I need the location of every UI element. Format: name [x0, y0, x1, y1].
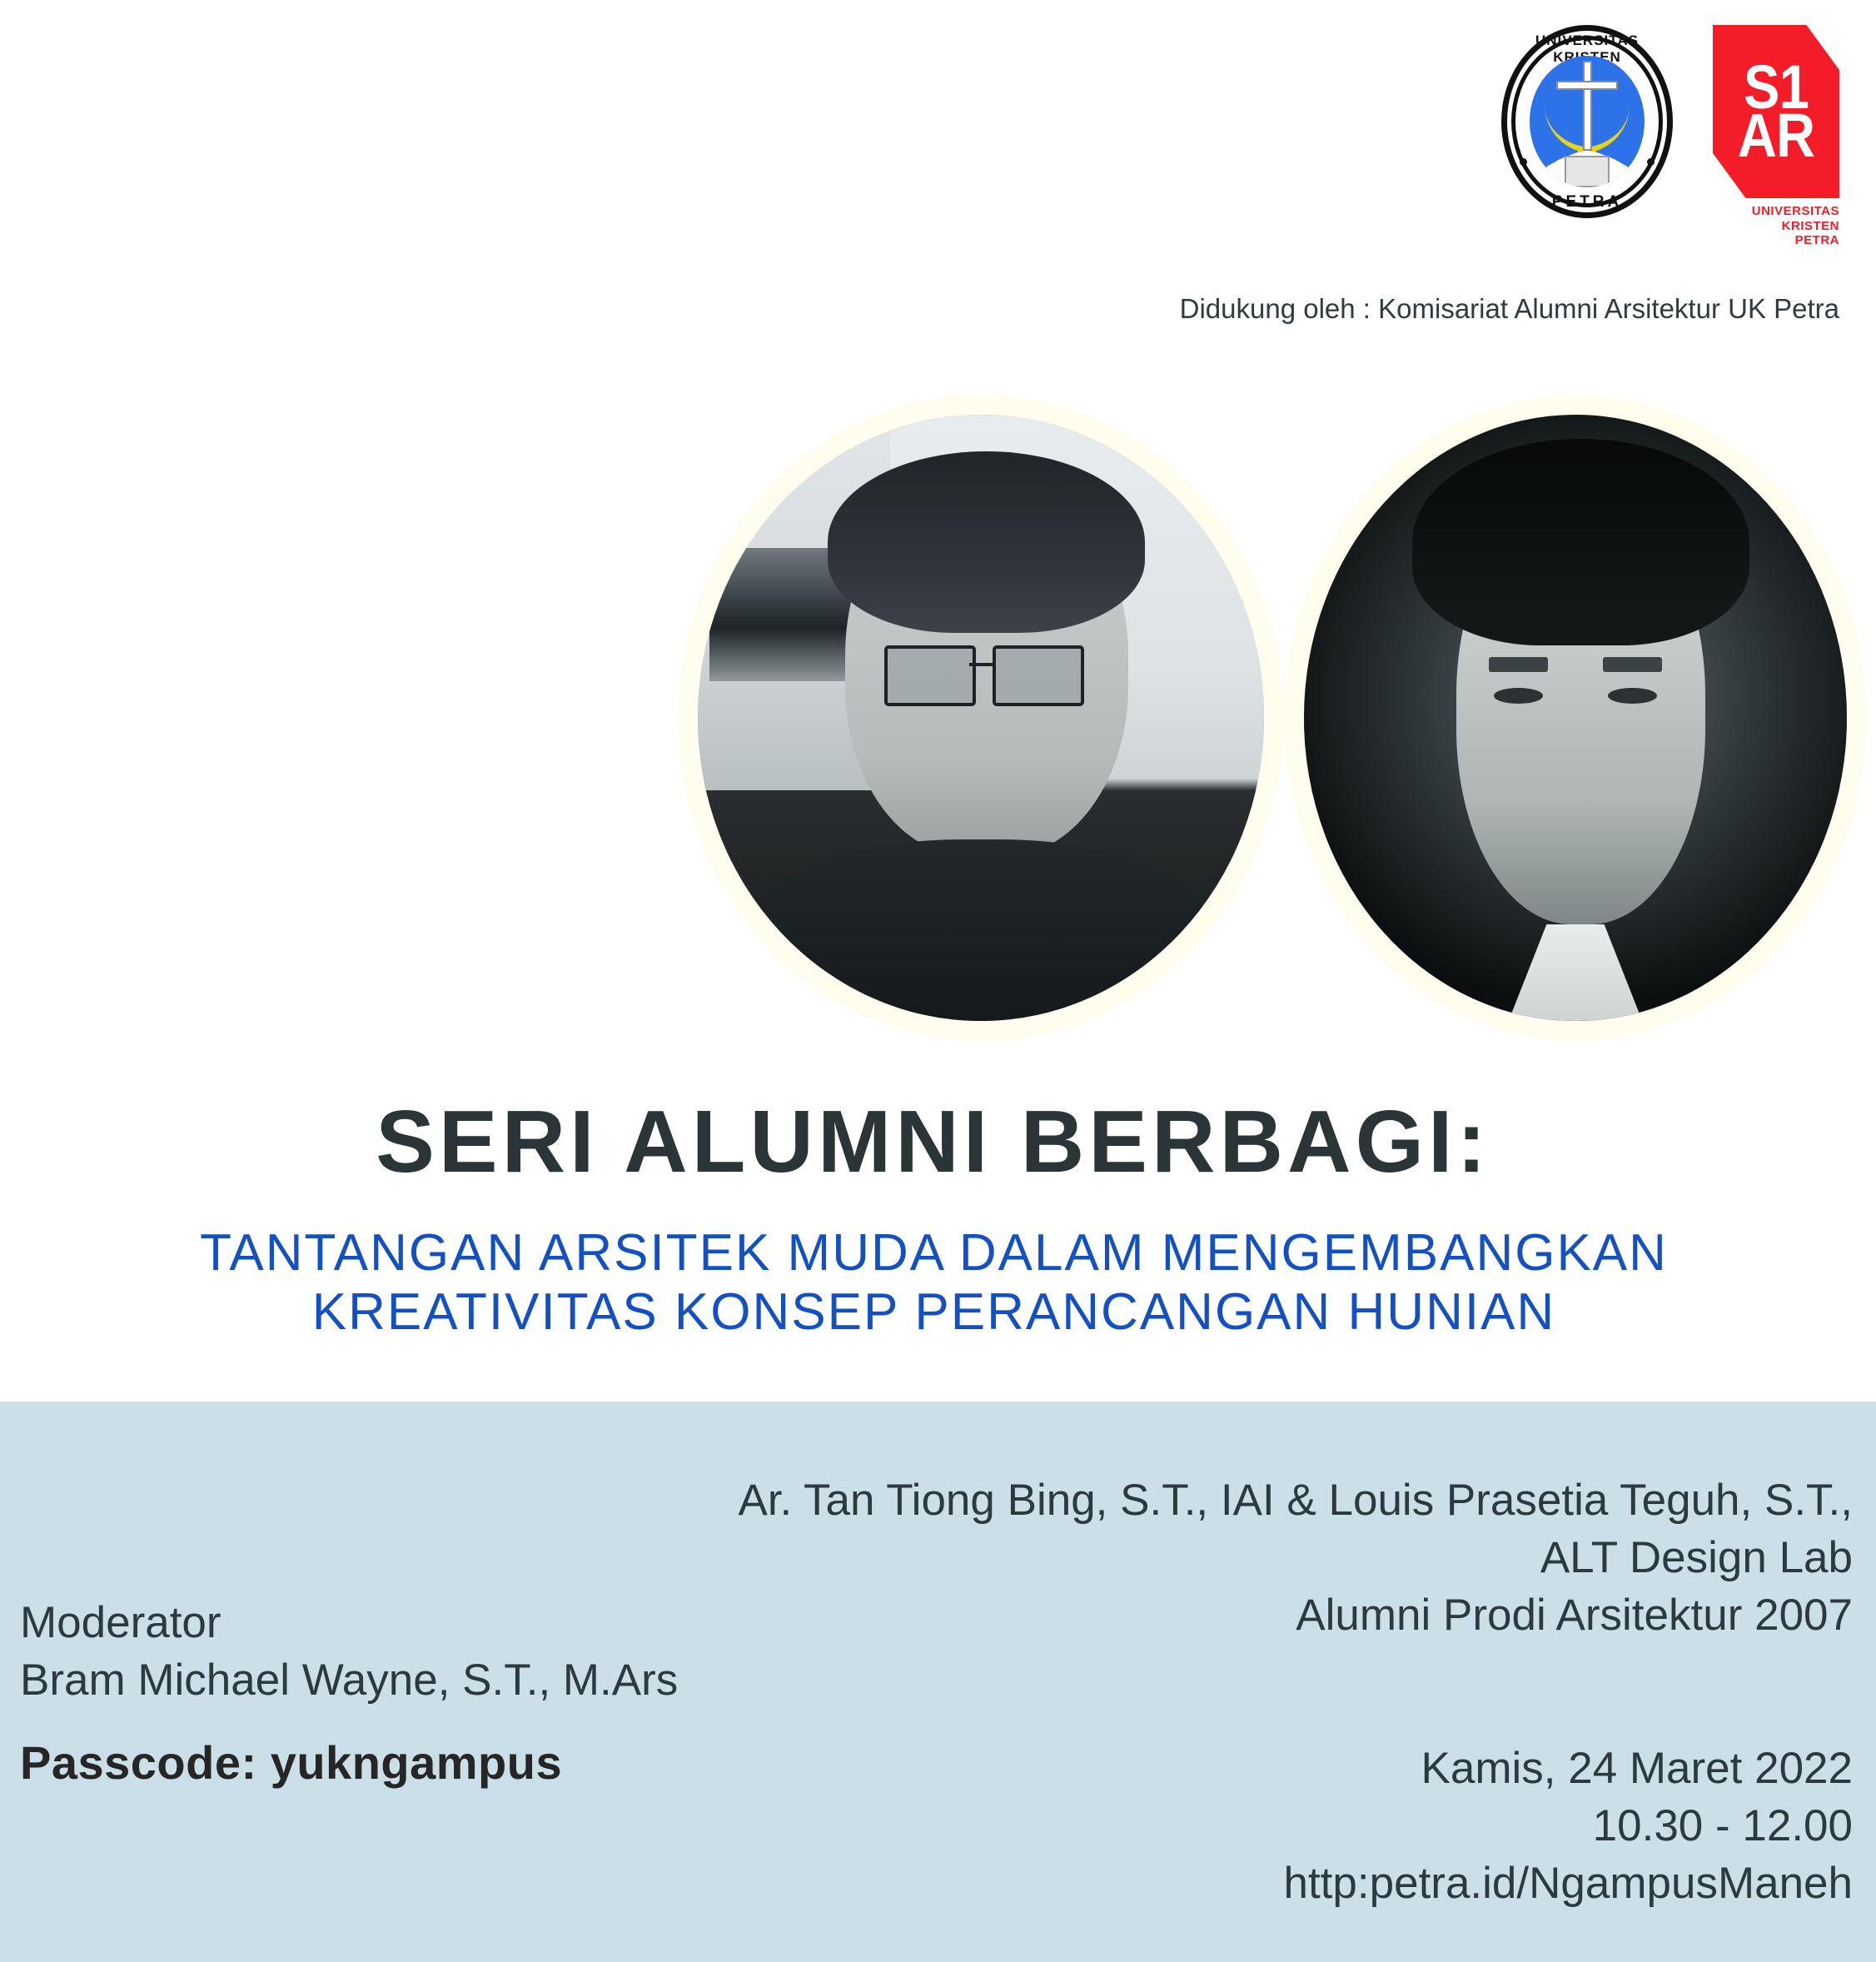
portrait-b-eye-left — [1494, 688, 1543, 704]
s1ar-letters: S1 AR — [1720, 25, 1832, 198]
portrait-a-shirt — [754, 839, 1207, 1021]
details-panel: Ar. Tan Tiong Bing, S.T., IAI & Louis Pr… — [0, 1402, 1876, 1962]
s1ar-sub-line1: UNIVERSITAS — [1713, 204, 1839, 219]
portrait-b-render — [1304, 415, 1847, 1021]
page-subtitle: TANTANGAN ARSITEK MUDA DALAM MENGEMBANGK… — [0, 1224, 1876, 1342]
speakers-line-1: Ar. Tan Tiong Bing, S.T., IAI & Louis Pr… — [687, 1472, 1853, 1530]
seal-bottom-text: PETRA — [1501, 193, 1673, 212]
speaker-portraits — [689, 406, 1859, 1029]
moderator-block: Moderator Bram Michael Wayne, S.T., M.Ar… — [20, 1595, 678, 1794]
s1ar-sub-line3: PETRA — [1713, 233, 1839, 248]
speaker-photo-left — [689, 406, 1272, 1029]
seal-blue-disc — [1530, 56, 1645, 187]
portrait-a-glasses-bridge-icon — [969, 663, 992, 666]
speaker-photo-right — [1296, 406, 1855, 1029]
seal-cross-icon — [1583, 61, 1592, 151]
portrait-a-glasses-right-icon — [993, 645, 1084, 707]
speaker-photo-right-image — [1304, 415, 1847, 1021]
portrait-b-collar — [1456, 924, 1695, 1021]
moderator-name: Bram Michael Wayne, S.T., M.Ars — [20, 1652, 678, 1710]
portrait-b-hair — [1412, 439, 1749, 645]
schedule-block: Kamis, 24 Maret 2022 10.30 - 12.00 http:… — [687, 1740, 1853, 1913]
s1ar-line2: AR — [1738, 112, 1814, 160]
event-date: Kamis, 24 Maret 2022 — [687, 1740, 1853, 1798]
event-poster: UNIVERSITAS KRISTEN PETRA S1 AR UN — [0, 0, 1876, 1962]
page-subtitle-line1: TANTANGAN ARSITEK MUDA DALAM MENGEMBANGK… — [0, 1224, 1868, 1283]
event-time: 10.30 - 12.00 — [687, 1798, 1853, 1855]
portrait-b-eye-right — [1608, 688, 1657, 704]
portrait-a-hair — [828, 451, 1145, 633]
seal-dot-left-icon — [1520, 158, 1527, 166]
portrait-b-brow-left — [1489, 657, 1549, 671]
portrait-a-render — [698, 415, 1264, 1021]
portrait-b-brow-right — [1603, 657, 1663, 671]
seal-cross-bar-icon — [1556, 81, 1618, 90]
seal-dot-right-icon — [1647, 158, 1655, 166]
speakers-line-2: ALT Design Lab — [687, 1530, 1853, 1587]
portrait-a-glasses-left-icon — [884, 645, 976, 707]
header-logo-row: UNIVERSITAS KRISTEN PETRA S1 AR UN — [1501, 25, 1839, 248]
seal-rock-block-icon — [1565, 156, 1610, 187]
page-subtitle-line2: KREATIVITAS KONSEP PERANCANGAN HUNIAN — [0, 1283, 1868, 1342]
page-title: SERI ALUMNI BERBAGI: — [0, 1098, 1876, 1186]
s1ar-logo-icon: S1 AR UNIVERSITAS KRISTEN PETRA — [1713, 25, 1839, 248]
moderator-label: Moderator — [20, 1595, 678, 1652]
s1ar-sublabel: UNIVERSITAS KRISTEN PETRA — [1713, 204, 1839, 248]
s1ar-sub-line2: KRISTEN — [1713, 219, 1839, 234]
support-text: Didukung oleh : Komisariat Alumni Arsite… — [1180, 293, 1839, 325]
speakers-block: Ar. Tan Tiong Bing, S.T., IAI & Louis Pr… — [687, 1472, 1853, 1645]
passcode-text: Passcode: yukngampus — [20, 1733, 678, 1794]
s1ar-red-badge: S1 AR — [1713, 25, 1839, 198]
event-url[interactable]: http:petra.id/NgampusManeh — [687, 1855, 1853, 1913]
universitas-kristen-petra-seal-icon: UNIVERSITAS KRISTEN PETRA — [1501, 25, 1673, 218]
speakers-line-3: Alumni Prodi Arsitektur 2007 — [687, 1587, 1853, 1645]
speaker-photo-left-image — [698, 415, 1264, 1021]
